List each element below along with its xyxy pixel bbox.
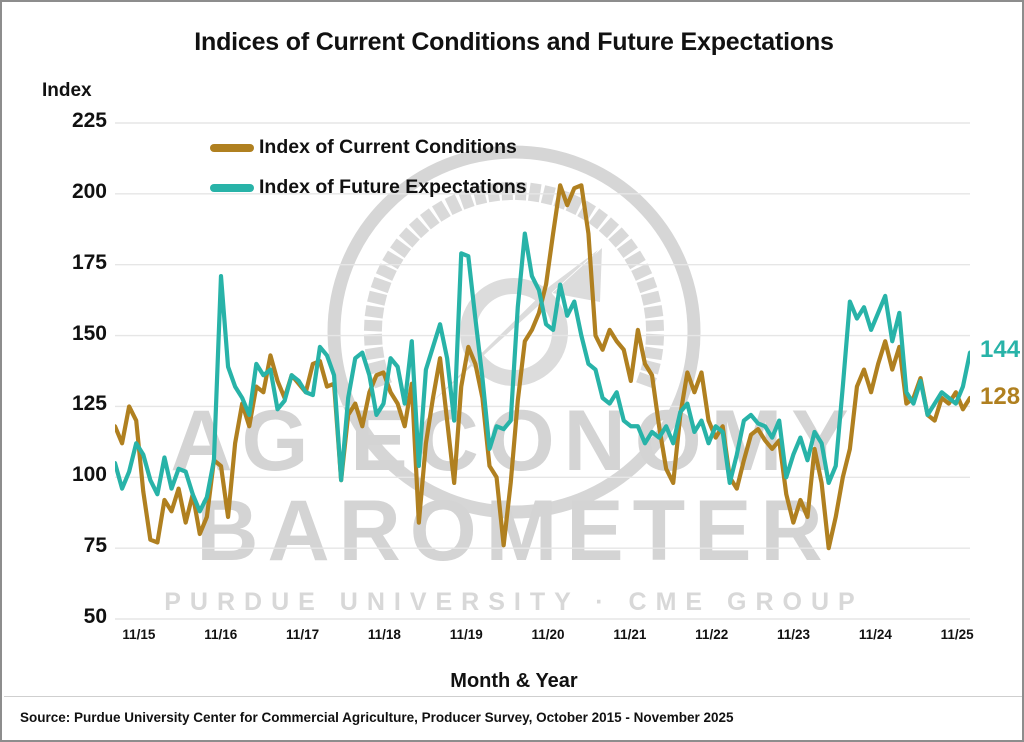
y-axis-tick-label: 200 — [35, 180, 107, 204]
x-axis-tick-label: 11/24 — [830, 627, 920, 642]
x-axis-tick-label: 11/16 — [176, 627, 266, 642]
x-axis-tick-label: 11/25 — [912, 627, 1002, 642]
legend-item-current-conditions[interactable]: Index of Current Conditions — [210, 136, 517, 159]
legend-item-future-expectations[interactable]: Index of Future Expectations — [210, 176, 527, 199]
y-axis-tick-label: 225 — [35, 109, 107, 133]
x-axis-tick-label: 11/22 — [667, 627, 757, 642]
x-axis-tick-label: 11/17 — [258, 627, 348, 642]
x-axis-title: Month & Year — [2, 670, 1024, 693]
x-axis-tick-label: 11/15 — [94, 627, 184, 642]
current-conditions-end-value: 128 — [980, 383, 1020, 411]
watermark-line-2: BAROMETER — [196, 483, 831, 579]
y-axis-tick-label: 100 — [35, 463, 107, 487]
y-axis-tick-label: 150 — [35, 322, 107, 346]
y-axis-tick-label: 50 — [35, 605, 107, 629]
y-axis-tick-label: 175 — [35, 251, 107, 275]
legend-swatch-future-expectations — [210, 184, 254, 192]
source-note: Source: Purdue University Center for Com… — [20, 710, 734, 725]
x-axis-tick-label: 11/18 — [339, 627, 429, 642]
x-axis-tick-label: 11/23 — [749, 627, 839, 642]
future-expectations-end-value: 144 — [980, 336, 1020, 364]
x-axis-tick-label: 11/20 — [503, 627, 593, 642]
legend-label-current-conditions: Index of Current Conditions — [259, 136, 517, 159]
x-axis-tick-label: 11/19 — [421, 627, 511, 642]
legend-label-future-expectations: Index of Future Expectations — [259, 176, 527, 199]
y-axis-tick-label: 75 — [35, 534, 107, 558]
chart-page: Indices of Current Conditions and Future… — [0, 0, 1024, 742]
watermark-line-3: PURDUE UNIVERSITY · CME GROUP — [164, 588, 863, 616]
y-axis-tick-label: 125 — [35, 392, 107, 416]
legend-swatch-current-conditions — [210, 144, 254, 152]
source-divider — [4, 696, 1022, 697]
x-axis-tick-label: 11/21 — [585, 627, 675, 642]
